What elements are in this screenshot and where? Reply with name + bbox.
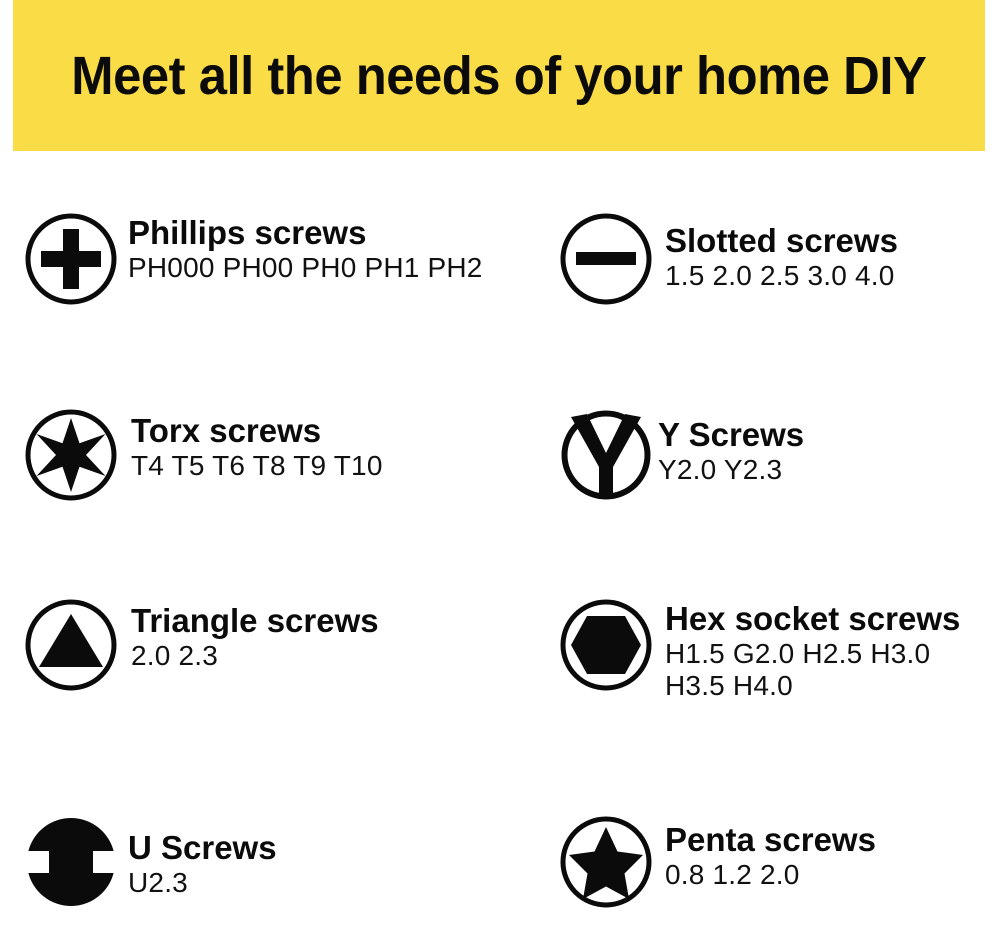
- screw-type-text: Triangle screws 2.0 2.3: [117, 599, 379, 673]
- screw-type-item-u: U Screws U2.3: [25, 816, 545, 908]
- u-notched-disc-icon: [25, 816, 117, 908]
- y-letter-in-circle-icon: [560, 409, 652, 501]
- screw-type-item-penta: Penta screws 0.8 1.2 2.0: [560, 816, 990, 908]
- screw-type-item-hex-socket: Hex socket screws H1.5 G2.0 H2.5 H3.0 H3…: [560, 599, 990, 703]
- screw-type-text: Penta screws 0.8 1.2 2.0: [652, 816, 876, 892]
- screw-type-item-y: Y Screws Y2.0 Y2.3: [560, 409, 990, 501]
- screw-type-item-slotted: Slotted screws 1.5 2.0 2.5 3.0 4.0: [560, 213, 990, 305]
- screw-type-text: U Screws U2.3: [117, 816, 277, 900]
- screw-type-sizes: 2.0 2.3: [131, 639, 379, 673]
- slotted-bar-in-circle-icon: [560, 213, 652, 305]
- page-title: Meet all the needs of your home DIY: [71, 49, 926, 103]
- penta-five-point-star-in-circle-icon: [560, 816, 652, 908]
- phillips-cross-in-circle-icon: [25, 213, 117, 305]
- screw-type-sizes: T4 T5 T6 T8 T9 T10: [131, 449, 383, 483]
- screw-type-title: Phillips screws: [128, 215, 483, 251]
- screw-type-item-triangle: Triangle screws 2.0 2.3: [25, 599, 545, 691]
- screw-type-text: Hex socket screws H1.5 G2.0 H2.5 H3.0 H3…: [652, 599, 960, 703]
- screw-type-text: Phillips screws PH000 PH00 PH0 PH1 PH2: [117, 213, 483, 285]
- screw-type-item-torx: Torx screws T4 T5 T6 T8 T9 T10: [25, 409, 545, 501]
- screw-type-sizes: 1.5 2.0 2.5 3.0 4.0: [665, 259, 898, 293]
- screw-type-text: Y Screws Y2.0 Y2.3: [652, 409, 804, 487]
- screw-type-title: Torx screws: [131, 413, 383, 449]
- screw-type-sizes: 0.8 1.2 2.0: [665, 858, 876, 892]
- screw-type-sizes: H1.5 G2.0 H2.5 H3.0: [665, 637, 960, 671]
- screw-type-sizes: U2.3: [128, 866, 277, 900]
- screw-type-sizes-line2: H3.5 H4.0: [665, 669, 960, 703]
- screw-type-title: U Screws: [128, 830, 277, 866]
- screw-type-item-phillips: Phillips screws PH000 PH00 PH0 PH1 PH2: [25, 213, 545, 305]
- triangle-in-circle-icon: [25, 599, 117, 691]
- header-banner: Meet all the needs of your home DIY: [13, 0, 985, 151]
- screw-type-text: Slotted screws 1.5 2.0 2.5 3.0 4.0: [652, 213, 898, 293]
- screw-type-title: Triangle screws: [131, 603, 379, 639]
- screw-type-title: Hex socket screws: [665, 601, 960, 637]
- torx-six-point-star-in-circle-icon: [25, 409, 117, 501]
- screw-type-sizes: Y2.0 Y2.3: [658, 453, 804, 487]
- screw-type-text: Torx screws T4 T5 T6 T8 T9 T10: [117, 409, 383, 483]
- screw-type-sizes: PH000 PH00 PH0 PH1 PH2: [128, 251, 483, 285]
- screw-type-grid: Phillips screws PH000 PH00 PH0 PH1 PH2 S…: [0, 151, 1000, 933]
- hexagon-in-circle-icon: [560, 599, 652, 691]
- screw-type-title: Slotted screws: [665, 223, 898, 259]
- screw-type-title: Penta screws: [665, 822, 876, 858]
- screw-type-title: Y Screws: [658, 417, 804, 453]
